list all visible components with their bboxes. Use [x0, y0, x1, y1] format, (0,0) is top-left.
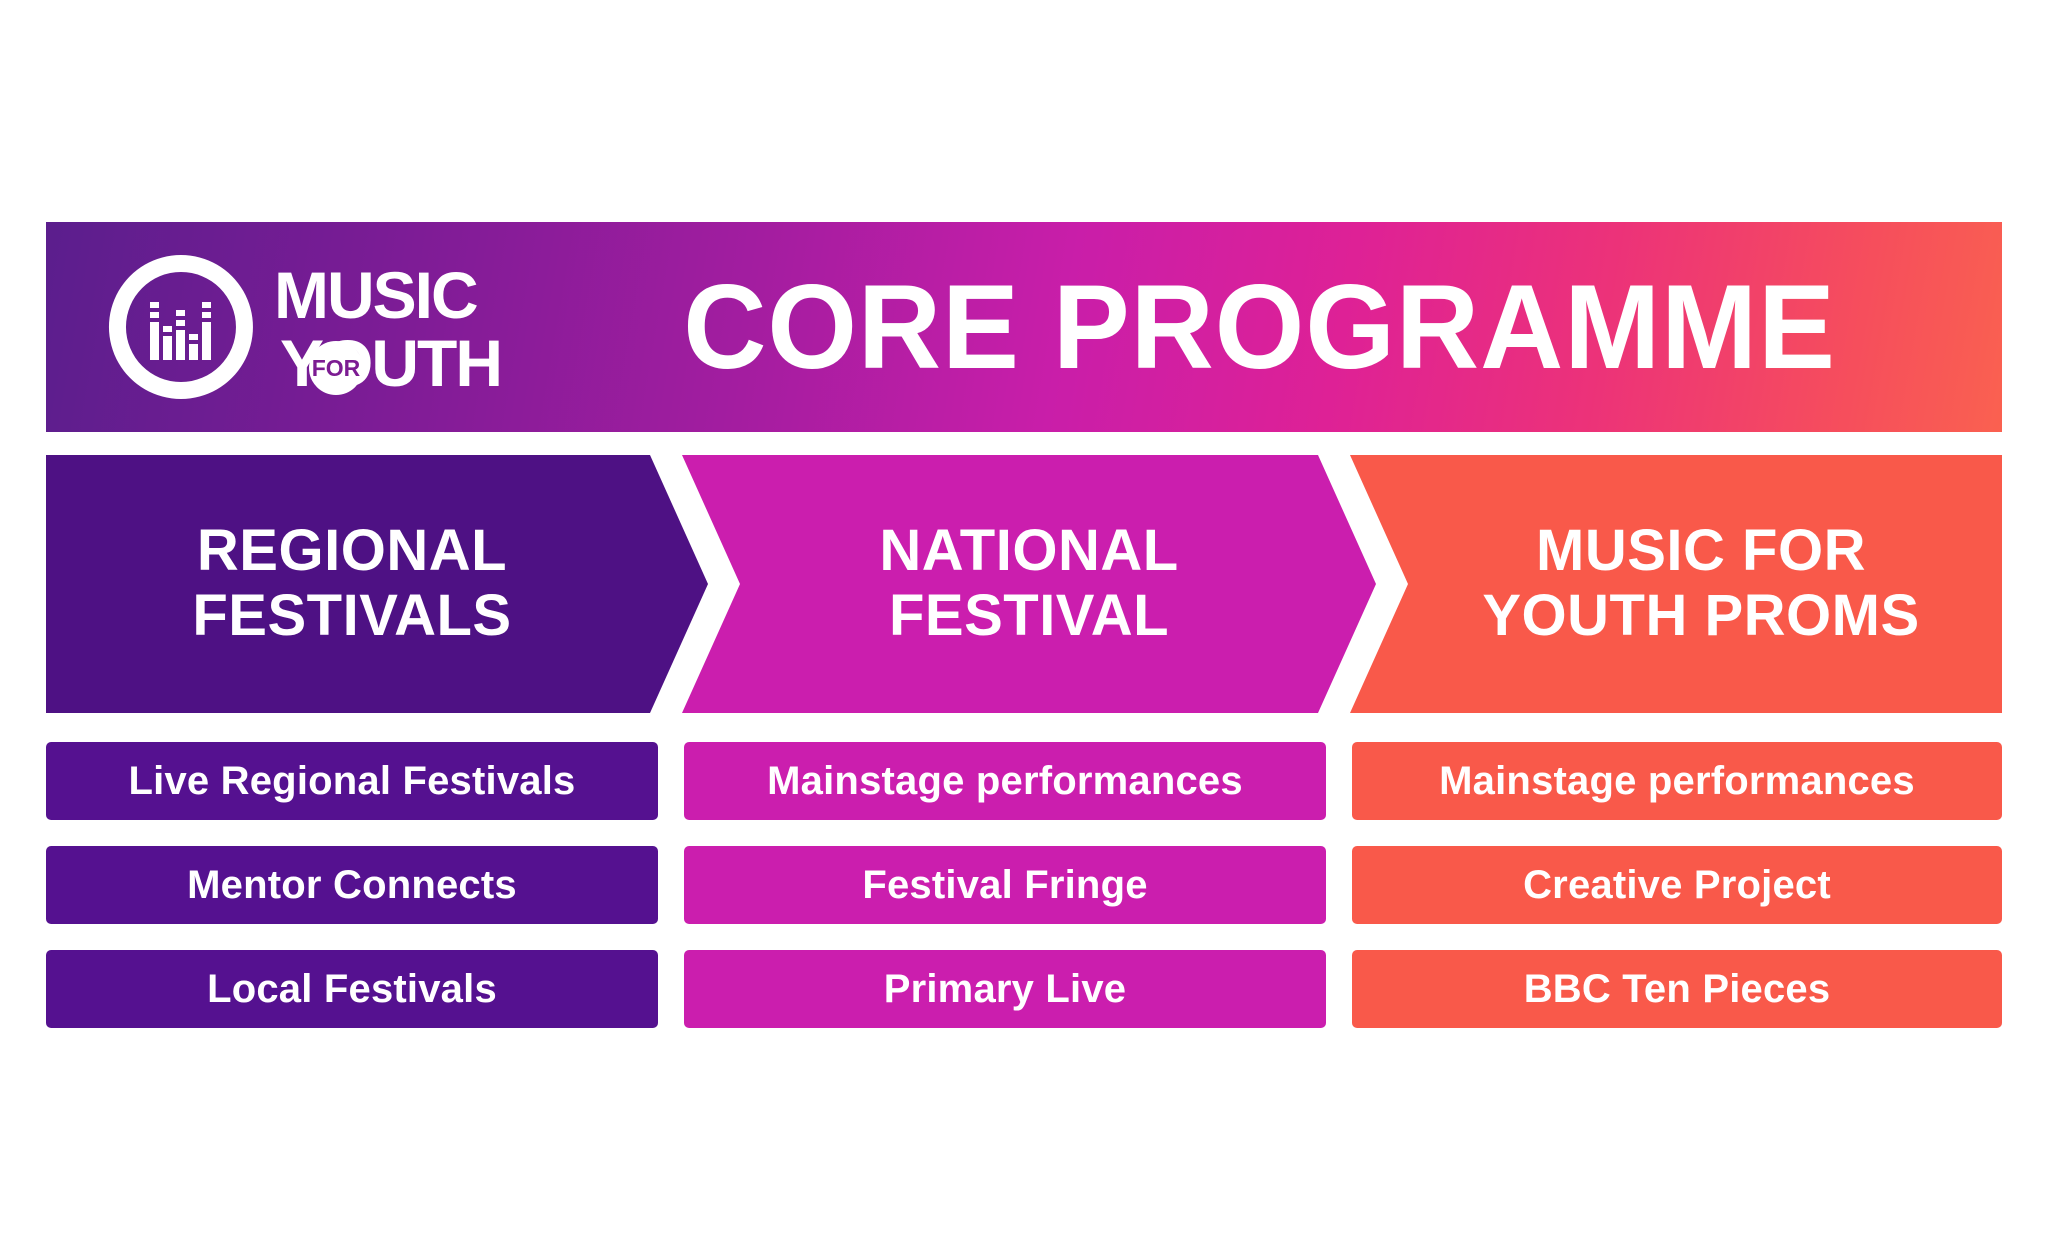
items-column-music-for-youth-proms: Mainstage performances Creative Project …	[1352, 742, 2002, 1054]
music-for-youth-wordmark: MUSIC YOUTH FOR	[274, 252, 544, 402]
chevron-label-national-festival: NATIONAL FESTIVAL	[839, 519, 1218, 649]
items-column-national-festival: Mainstage performances Festival Fringe P…	[684, 742, 1326, 1054]
circular-equalizer-icon	[102, 248, 260, 406]
infographic-canvas: MUSIC YOUTH FOR CORE PROGRAMME REGIONAL …	[0, 0, 2048, 1257]
chevron-label-regional-festivals: REGIONAL FESTIVALS	[192, 519, 561, 649]
page-title: CORE PROGRAMME	[573, 267, 1973, 387]
chevron-row: REGIONAL FESTIVALS NATIONAL FESTIVAL MUS…	[46, 455, 2002, 713]
list-item[interactable]: Primary Live	[684, 950, 1326, 1028]
chevron-label-music-for-youth-proms: MUSIC FOR YOUTH PROMS	[1432, 519, 1919, 649]
list-item[interactable]: BBC Ten Pieces	[1352, 950, 2002, 1028]
music-for-youth-logo: MUSIC YOUTH FOR	[102, 247, 544, 407]
chevron-national-festival[interactable]: NATIONAL FESTIVAL	[682, 455, 1376, 713]
wordmark-music-text: MUSIC	[274, 258, 477, 332]
wordmark-for-text: FOR	[312, 355, 361, 381]
list-item[interactable]: Mainstage performances	[684, 742, 1326, 820]
list-item[interactable]: Mentor Connects	[46, 846, 658, 924]
header-banner: MUSIC YOUTH FOR CORE PROGRAMME	[46, 222, 2002, 432]
list-item[interactable]: Creative Project	[1352, 846, 2002, 924]
list-item[interactable]: Festival Fringe	[684, 846, 1326, 924]
chevron-regional-festivals[interactable]: REGIONAL FESTIVALS	[46, 455, 708, 713]
list-item[interactable]: Local Festivals	[46, 950, 658, 1028]
list-item[interactable]: Live Regional Festivals	[46, 742, 658, 820]
chevron-music-for-youth-proms[interactable]: MUSIC FOR YOUTH PROMS	[1350, 455, 2002, 713]
list-item[interactable]: Mainstage performances	[1352, 742, 2002, 820]
items-column-regional-festivals: Live Regional Festivals Mentor Connects …	[46, 742, 658, 1054]
